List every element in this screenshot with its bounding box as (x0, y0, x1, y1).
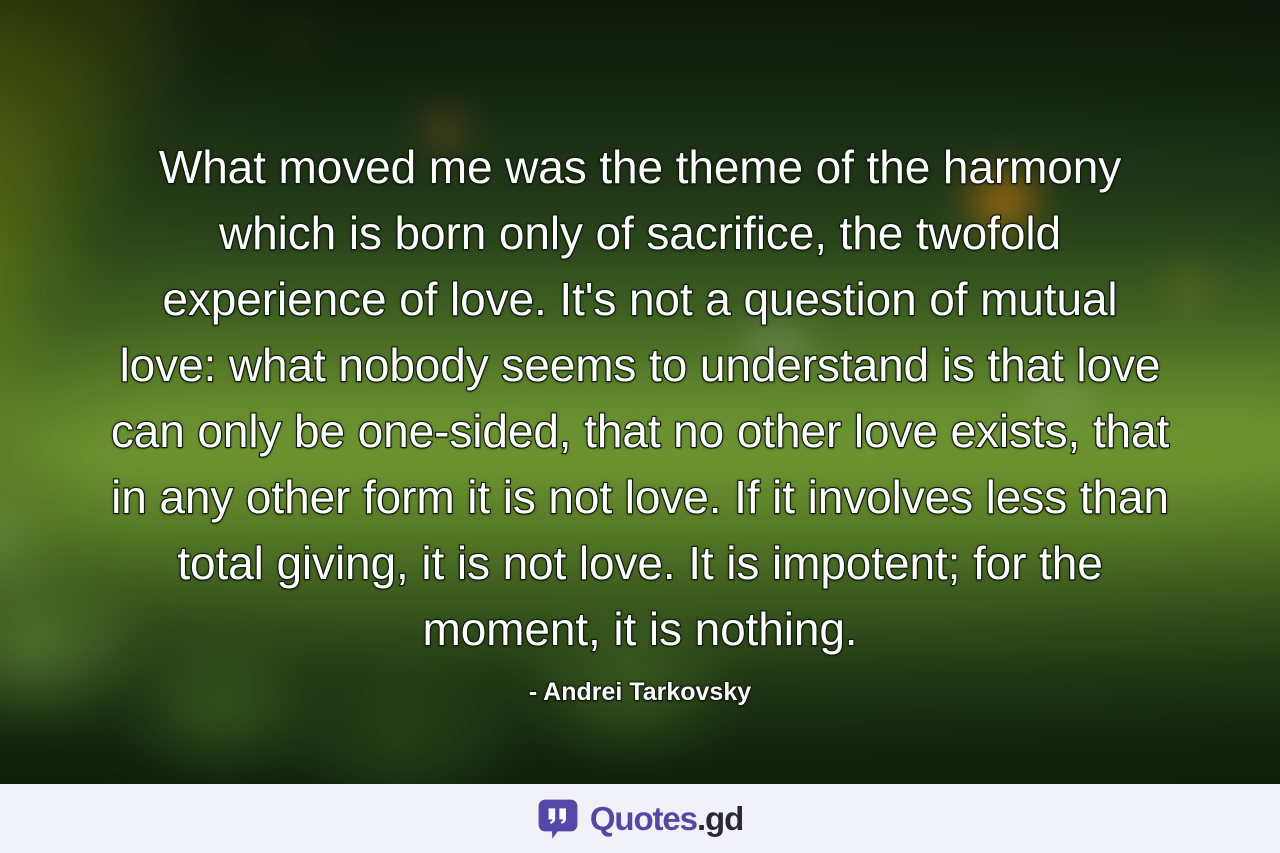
brand-tld: gd (705, 800, 743, 837)
quote-text: What moved me was the theme of the harmo… (108, 134, 1172, 662)
quote-page: What moved me was the theme of the harmo… (0, 0, 1280, 853)
brand-dot: . (697, 800, 705, 837)
quote-block: What moved me was the theme of the harmo… (108, 134, 1172, 708)
quote-author: - Andrei Tarkovsky (108, 676, 1172, 708)
site-footer: Quotes.gd (0, 784, 1280, 853)
brand-wordmark[interactable]: Quotes.gd (590, 802, 743, 835)
quote-card: What moved me was the theme of the harmo… (0, 0, 1280, 784)
brand-logo[interactable]: Quotes.gd (537, 798, 743, 840)
quote-bubble-icon[interactable] (537, 798, 579, 840)
brand-name: Quotes (590, 800, 697, 837)
